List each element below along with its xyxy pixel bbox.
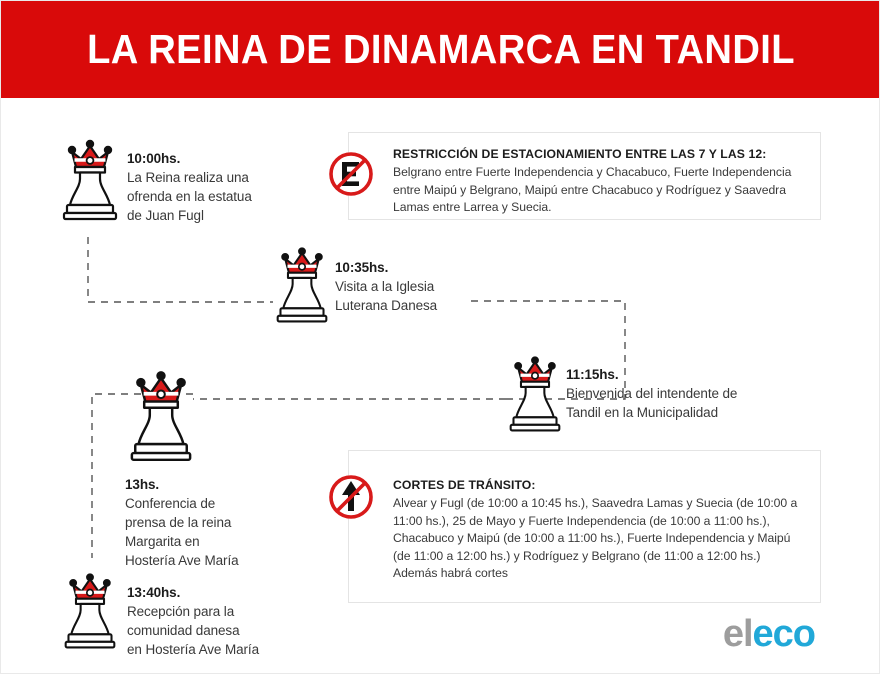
- timeline-event-1340: 13:40hs. Recepción para lacomunidad dane…: [61, 563, 321, 658]
- eleco-logo[interactable]: el eco: [723, 615, 815, 653]
- timeline-event-1000: 10:00hs. La Reina realiza unaofrenda en …: [59, 129, 309, 234]
- event-time: 13:40hs.: [127, 583, 327, 602]
- chess-queen-icon: [125, 359, 197, 471]
- event-text-block: 10:00hs. La Reina realiza unaofrenda en …: [127, 149, 309, 225]
- logo-text-eco: eco: [753, 615, 815, 653]
- page-title: LA REINA DE DINAMARCA EN TANDIL: [32, 1, 850, 98]
- event-text-block: 13:40hs. Recepción para lacomunidad dane…: [127, 583, 327, 659]
- event-description: Bienvenida del intendente deTandil en la…: [566, 384, 806, 422]
- notice-parking-box: RESTRICCIÓN DE ESTACIONAMIENTO ENTRE LAS…: [348, 132, 821, 220]
- event-time: 10:35hs.: [335, 258, 510, 277]
- notice-title: RESTRICCIÓN DE ESTACIONAMIENTO ENTRE LAS…: [393, 145, 808, 163]
- event-description: La Reina realiza unaofrenda en la estatu…: [127, 168, 309, 225]
- chess-queen-icon: [59, 129, 121, 229]
- event-time: 13hs.: [125, 475, 325, 494]
- no-straight-ahead-icon: [327, 473, 375, 521]
- chess-queen-icon: [61, 563, 119, 657]
- infographic-root: LA REINA DE DINAMARCA EN TANDIL: [0, 0, 880, 674]
- notice-text: Alvear y Fugl (de 10:00 a 10:45 hs.), Sa…: [393, 495, 805, 583]
- logo-text-el: el: [723, 615, 753, 653]
- chess-queen-icon: [506, 346, 564, 440]
- notice-body: RESTRICCIÓN DE ESTACIONAMIENTO ENTRE LAS…: [393, 145, 808, 217]
- event-time: 10:00hs.: [127, 149, 309, 168]
- no-parking-icon: [327, 150, 375, 198]
- event-time: 11:15hs.: [566, 365, 806, 384]
- timeline-event-13: 13hs. Conferencia deprensa de la reinaMa…: [125, 359, 345, 549]
- event-text-block: 11:15hs. Bienvenida del intendente deTan…: [566, 365, 806, 422]
- event-description: Recepción para lacomunidad danesaen Host…: [127, 602, 327, 659]
- event-text-block: 13hs. Conferencia deprensa de la reinaMa…: [125, 475, 325, 570]
- connector-1-to-2: [88, 237, 273, 302]
- event-description: Visita a la IglesiaLuterana Danesa: [335, 277, 510, 315]
- chess-queen-icon: [273, 237, 331, 331]
- notice-traffic-box: CORTES DE TRÁNSITO: Alvear y Fugl (de 10…: [348, 450, 821, 603]
- notice-body: CORTES DE TRÁNSITO: Alvear y Fugl (de 10…: [393, 476, 805, 583]
- event-description: Conferencia deprensa de la reinaMargarit…: [125, 494, 325, 570]
- timeline-event-1115: 11:15hs. Bienvenida del intendente deTan…: [506, 346, 806, 441]
- notice-text: Belgrano entre Fuerte Independencia y Ch…: [393, 164, 808, 217]
- notice-title: CORTES DE TRÁNSITO:: [393, 476, 805, 494]
- timeline-event-1035: 10:35hs. Visita a la IglesiaLuterana Dan…: [273, 237, 513, 332]
- event-text-block: 10:35hs. Visita a la IglesiaLuterana Dan…: [335, 258, 510, 315]
